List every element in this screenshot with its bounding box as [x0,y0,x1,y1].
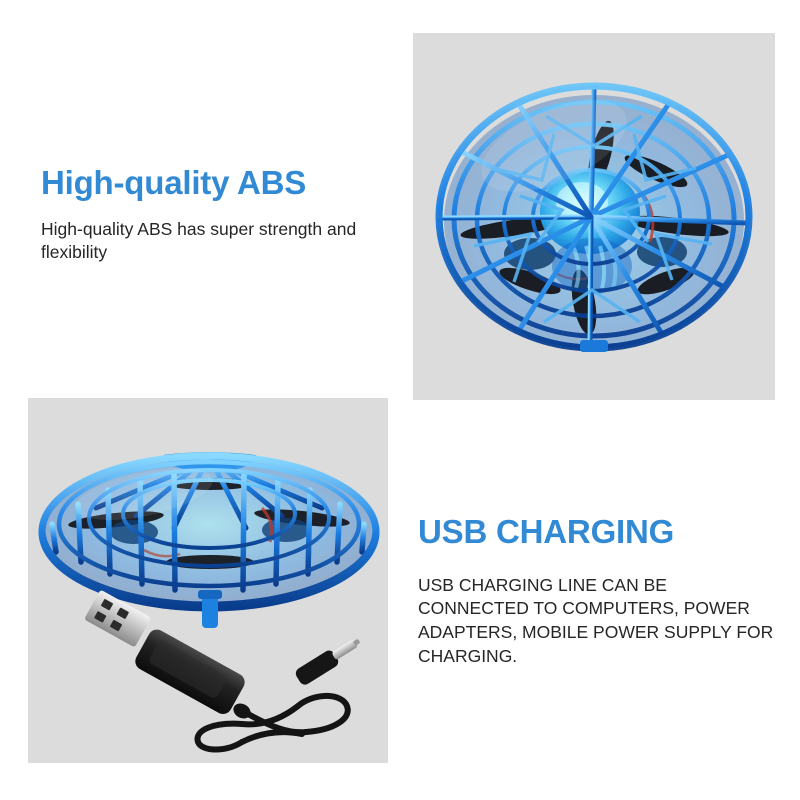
usb-a-connector [84,590,151,648]
product-photo-side-view [28,398,388,763]
drone-cage-svg [434,76,754,358]
feature-text-abs: High-quality ABS High-quality ABS has su… [41,166,391,264]
abs-headline: High-quality ABS [41,166,391,201]
usb-headline: USB CHARGING [418,515,778,550]
usb-body-text: USB CHARGING LINE CAN BE CONNECTED TO CO… [418,574,778,669]
product-feature-collage: High-quality ABS High-quality ABS has su… [0,0,800,800]
usb-charging-cable [66,594,376,754]
barrel-connector [294,633,365,686]
photo-stage-2 [28,398,388,763]
photo-stage [413,33,775,400]
abs-body-text: High-quality ABS has super strength and … [41,218,391,265]
drone-top-view [434,76,754,358]
feature-text-usb: USB CHARGING USB CHARGING LINE CAN BE CO… [418,515,778,669]
product-photo-top-view [413,33,775,400]
usb-cable-svg [66,594,376,754]
